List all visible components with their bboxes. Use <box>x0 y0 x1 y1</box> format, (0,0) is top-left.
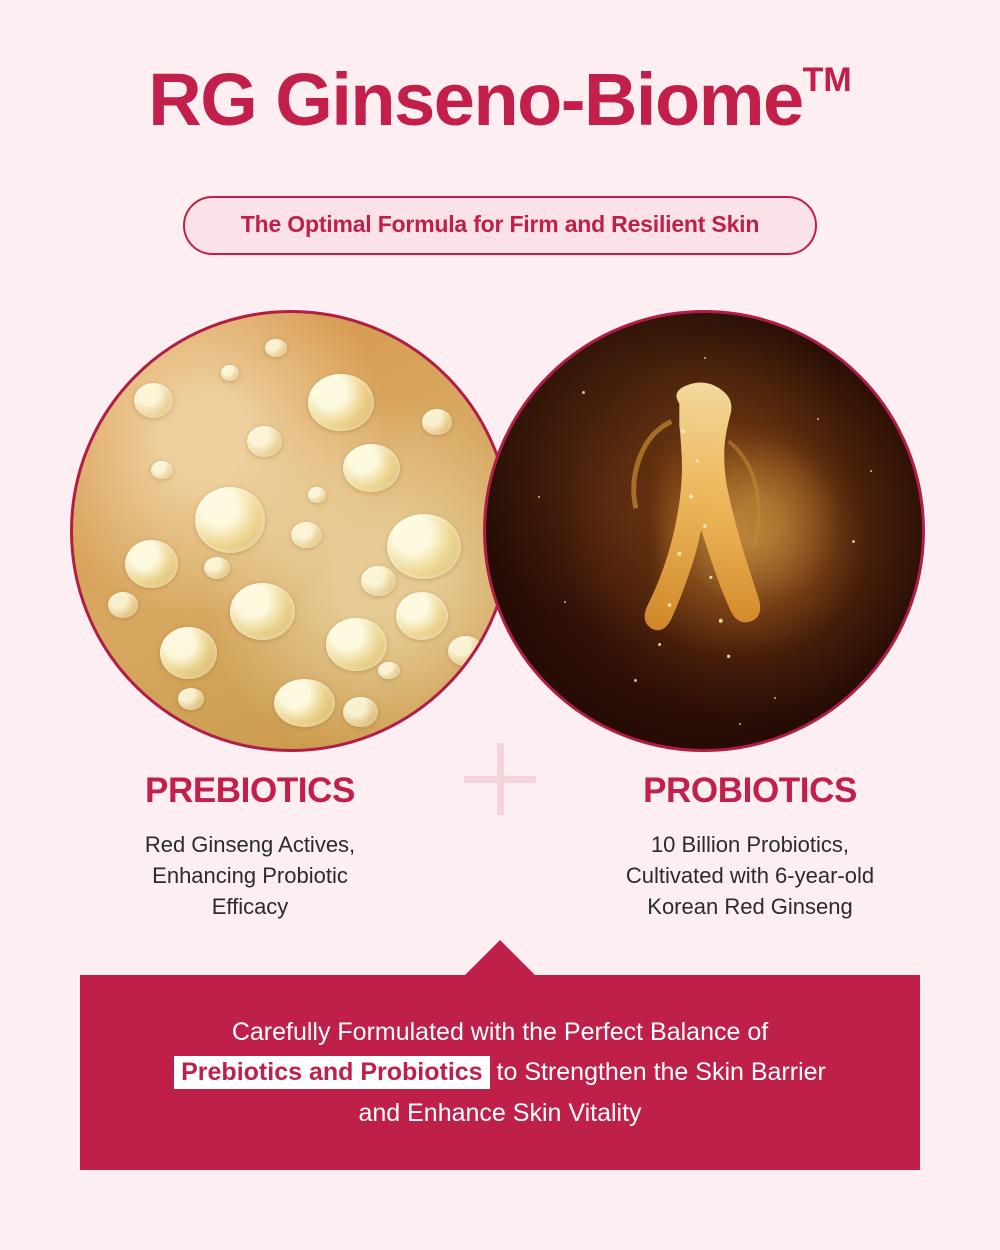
promo-page: RG Ginseno-BiomeTM The Optimal Formula f… <box>0 0 1000 1250</box>
summary-banner-text: Carefully Formulated with the Perfect Ba… <box>80 975 920 1170</box>
prebiotics-desc-line-1: Red Ginseng Actives, <box>34 829 466 860</box>
banner-highlight: Prebiotics and Probiotics <box>174 1056 489 1089</box>
probiotics-desc-line-3: Korean Red Ginseng <box>534 891 966 922</box>
prebiotics-description: Red Ginseng Actives, Enhancing Probiotic… <box>34 829 466 923</box>
column-prebiotics: PREBIOTICS Red Ginseng Actives, Enhancin… <box>0 772 500 922</box>
probiotics-description: 10 Billion Probiotics, Cultivated with 6… <box>534 829 966 923</box>
ginseng-root-graphic <box>486 313 922 749</box>
column-probiotics: PROBIOTICS 10 Billion Probiotics, Cultiv… <box>500 772 1000 922</box>
banner-line-1: Carefully Formulated with the Perfect Ba… <box>232 1012 768 1053</box>
plus-icon <box>464 743 536 815</box>
banner-line-2-suffix: to Strengthen the Skin Barrier <box>490 1058 826 1086</box>
banner-line-2: Prebiotics and Probiotics to Strengthen … <box>174 1052 826 1093</box>
probiotics-glowing-ginseng-root-circle <box>483 310 925 752</box>
probiotics-desc-line-1: 10 Billion Probiotics, <box>534 829 966 860</box>
banner-line-3: and Enhance Skin Vitality <box>358 1093 641 1134</box>
summary-banner: Carefully Formulated with the Perfect Ba… <box>80 975 920 1170</box>
prebiotics-desc-line-2: Enhancing Probiotic <box>34 860 466 891</box>
prebiotics-golden-bubbles-circle <box>70 310 512 752</box>
probiotics-heading: PROBIOTICS <box>534 772 966 811</box>
prebiotics-desc-line-3: Efficacy <box>34 891 466 922</box>
probiotics-desc-line-2: Cultivated with 6-year-old <box>534 860 966 891</box>
prebiotics-heading: PREBIOTICS <box>34 772 466 811</box>
banner-notch-triangle <box>464 940 536 976</box>
ingredient-images <box>0 0 1000 760</box>
